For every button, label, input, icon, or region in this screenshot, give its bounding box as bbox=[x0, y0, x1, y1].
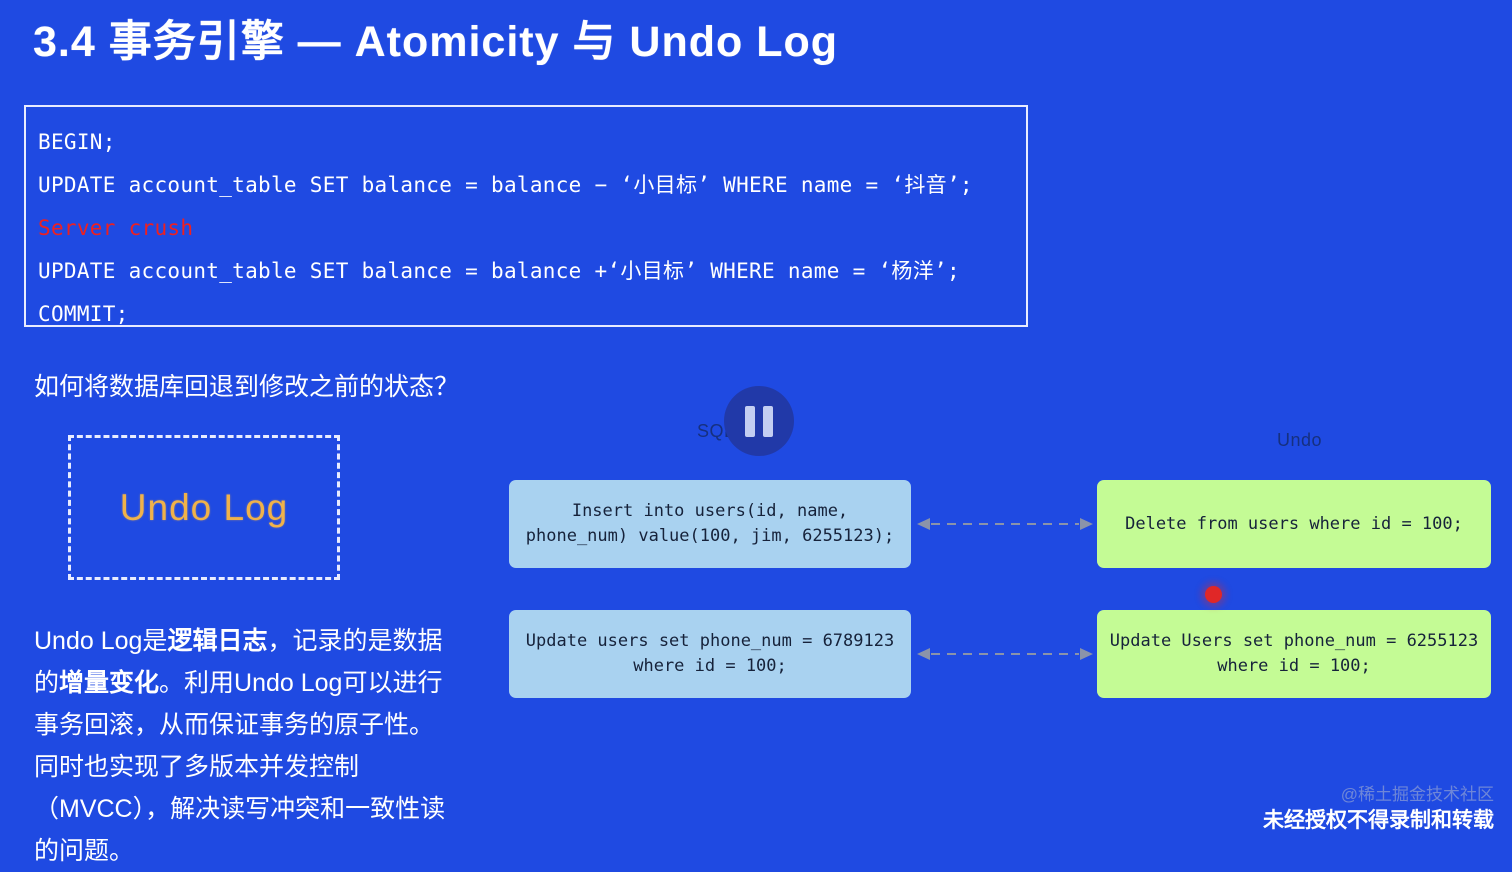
para-seg-0: Undo Log是 bbox=[34, 627, 167, 655]
code-line-update-debit: UPDATE account_table SET balance = balan… bbox=[38, 164, 1026, 207]
question-text: 如何将数据库回退到修改之前的状态？ bbox=[34, 370, 459, 404]
description-paragraph: Undo Log是逻辑日志，记录的是数据的增量变化。利用Undo Log可以进行… bbox=[34, 620, 454, 872]
code-line-commit: COMMIT; bbox=[38, 293, 1026, 336]
pause-icon[interactable] bbox=[724, 386, 794, 456]
code-line-begin: BEGIN; bbox=[38, 121, 1026, 164]
page-title: 3.4 事务引擎 — Atomicity 与 Undo Log bbox=[33, 12, 838, 72]
para-seg-3: 增量变化 bbox=[59, 669, 159, 697]
undo-log-box: Undo Log bbox=[68, 435, 340, 580]
code-line-server-crush: Server crush bbox=[38, 207, 1026, 250]
code-line-update-credit: UPDATE account_table SET balance = balan… bbox=[38, 250, 1026, 293]
pause-bar-left bbox=[745, 406, 755, 437]
slide-canvas: 3.4 事务引擎 — Atomicity 与 Undo Log BEGIN; U… bbox=[0, 0, 1512, 836]
watermark-notice: 未经授权不得录制和转载 bbox=[1263, 804, 1494, 834]
watermark-handle: @稀土掘金技术社区 bbox=[1341, 780, 1494, 805]
connector-arrow-top bbox=[915, 517, 1095, 531]
sql-box-insert: Insert into users(id, name, phone_num) v… bbox=[509, 480, 911, 568]
column-label-undo: Undo bbox=[1277, 430, 1322, 451]
undo-log-box-label: Undo Log bbox=[120, 487, 288, 529]
pause-bar-right bbox=[763, 406, 773, 437]
connector-arrow-bottom bbox=[915, 647, 1095, 661]
para-seg-1: 逻辑日志 bbox=[167, 627, 267, 655]
undo-box-update: Update Users set phone_num = 6255123 whe… bbox=[1097, 610, 1491, 698]
sql-code-block: BEGIN; UPDATE account_table SET balance … bbox=[24, 105, 1028, 327]
red-dot-cursor-icon bbox=[1205, 586, 1222, 603]
undo-box-delete: Delete from users where id = 100; bbox=[1097, 480, 1491, 568]
sql-box-update: Update users set phone_num = 6789123 whe… bbox=[509, 610, 911, 698]
